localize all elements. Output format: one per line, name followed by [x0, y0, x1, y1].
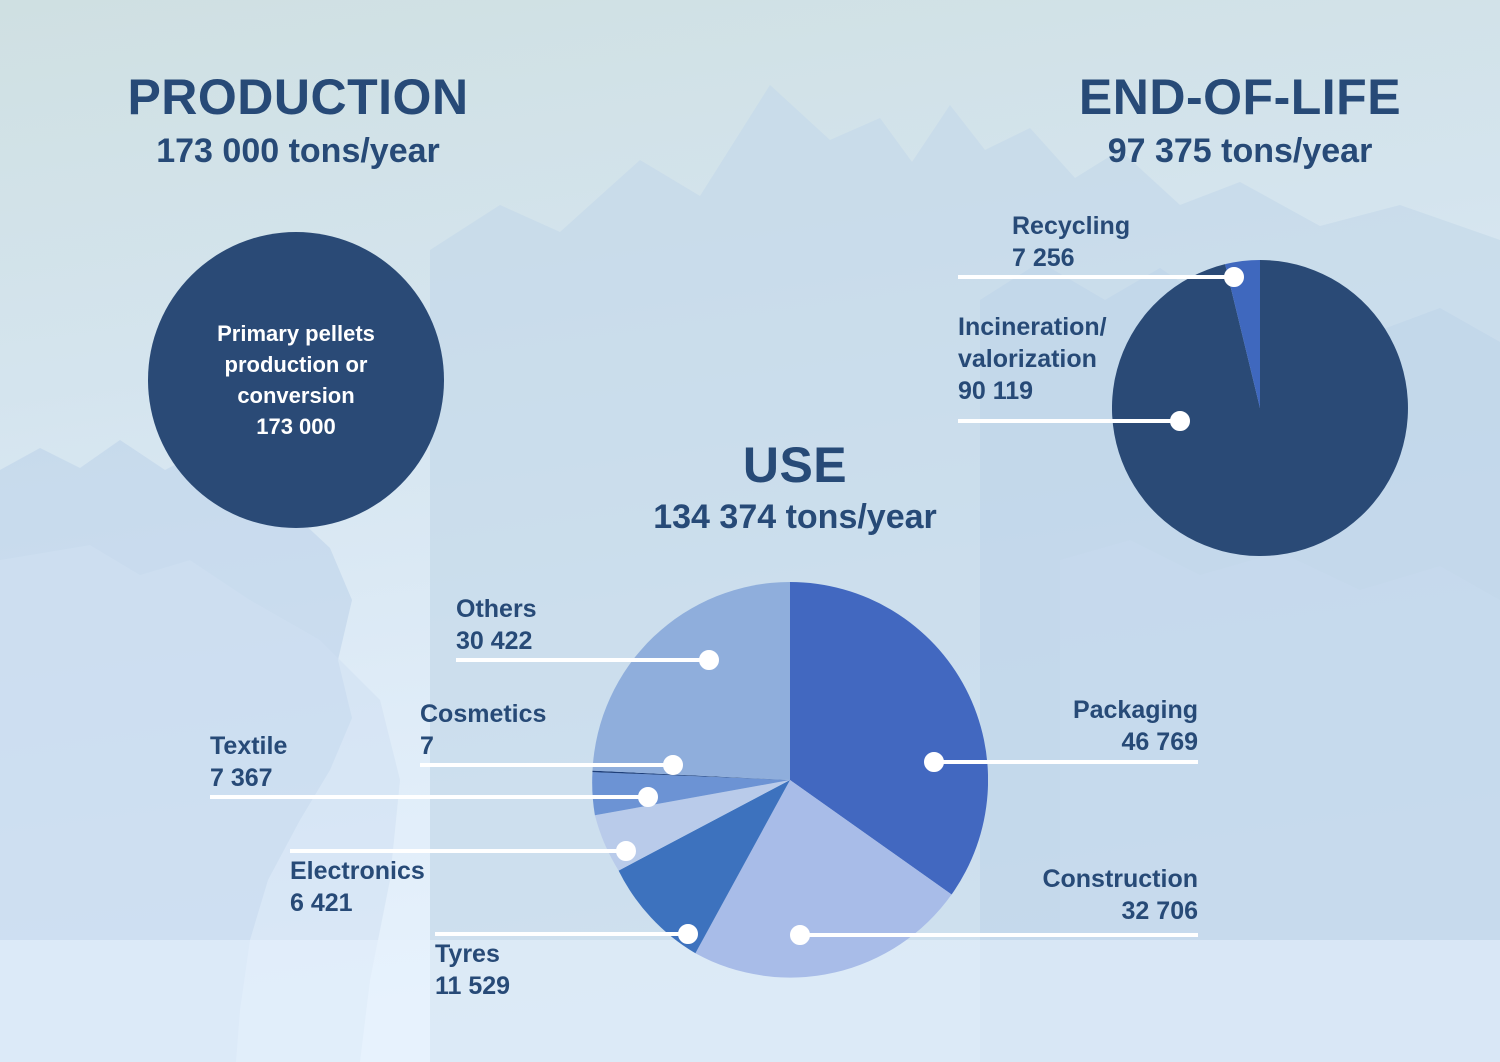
end-of-life-section: END-OF-LIFE 97 375 tons/year: [1020, 72, 1460, 171]
callout-others-name: Others: [456, 593, 537, 625]
use-section: USE 134 374 tons/year: [600, 440, 990, 537]
callout-construction-name: Construction: [918, 863, 1198, 895]
callout-textile: Textile 7 367: [210, 730, 287, 794]
callout-construction-value: 32 706: [918, 895, 1198, 927]
callout-textile-name: Textile: [210, 730, 287, 762]
production-circle[interactable]: Primary pelletsproduction orconversion17…: [148, 232, 444, 528]
pie-slice-others[interactable]: [593, 582, 790, 780]
callout-packaging: Packaging 46 769: [938, 694, 1198, 758]
production-circle-label: Primary pelletsproduction orconversion17…: [217, 318, 375, 443]
callout-incineration-value: 90 119: [958, 375, 1107, 407]
callout-others: Others 30 422: [456, 593, 537, 657]
callout-cosmetics-name: Cosmetics: [420, 698, 546, 730]
callout-textile-value: 7 367: [210, 762, 287, 794]
use-title: USE: [600, 440, 990, 490]
callout-cosmetics-value: 7: [420, 730, 546, 762]
end-of-life-title: END-OF-LIFE: [1020, 72, 1460, 122]
callout-others-value: 30 422: [456, 625, 537, 657]
callout-incineration-name-line1: Incineration/: [958, 311, 1107, 343]
production-section: PRODUCTION 173 000 tons/year: [98, 72, 498, 171]
callout-tyres-name: Tyres: [435, 938, 510, 970]
callout-cosmetics: Cosmetics 7: [420, 698, 546, 762]
use-subtitle: 134 374 tons/year: [600, 498, 990, 537]
callout-recycling-value: 7 256: [1012, 242, 1130, 274]
callout-incineration-name-line2: valorization: [958, 343, 1107, 375]
callout-incineration: Incineration/ valorization 90 119: [958, 311, 1107, 407]
end-of-life-pie-chart[interactable]: [1112, 260, 1408, 556]
callout-recycling: Recycling 7 256: [1012, 210, 1130, 274]
callout-tyres-value: 11 529: [435, 970, 510, 1002]
callout-electronics: Electronics 6 421: [290, 855, 425, 919]
callout-recycling-name: Recycling: [1012, 210, 1130, 242]
callout-construction: Construction 32 706: [918, 863, 1198, 927]
production-subtitle: 173 000 tons/year: [98, 132, 498, 171]
callout-electronics-value: 6 421: [290, 887, 425, 919]
production-title: PRODUCTION: [98, 72, 498, 122]
callout-packaging-value: 46 769: [938, 726, 1198, 758]
callout-electronics-name: Electronics: [290, 855, 425, 887]
callout-packaging-name: Packaging: [938, 694, 1198, 726]
callout-tyres: Tyres 11 529: [435, 938, 510, 1002]
end-of-life-subtitle: 97 375 tons/year: [1020, 132, 1460, 171]
